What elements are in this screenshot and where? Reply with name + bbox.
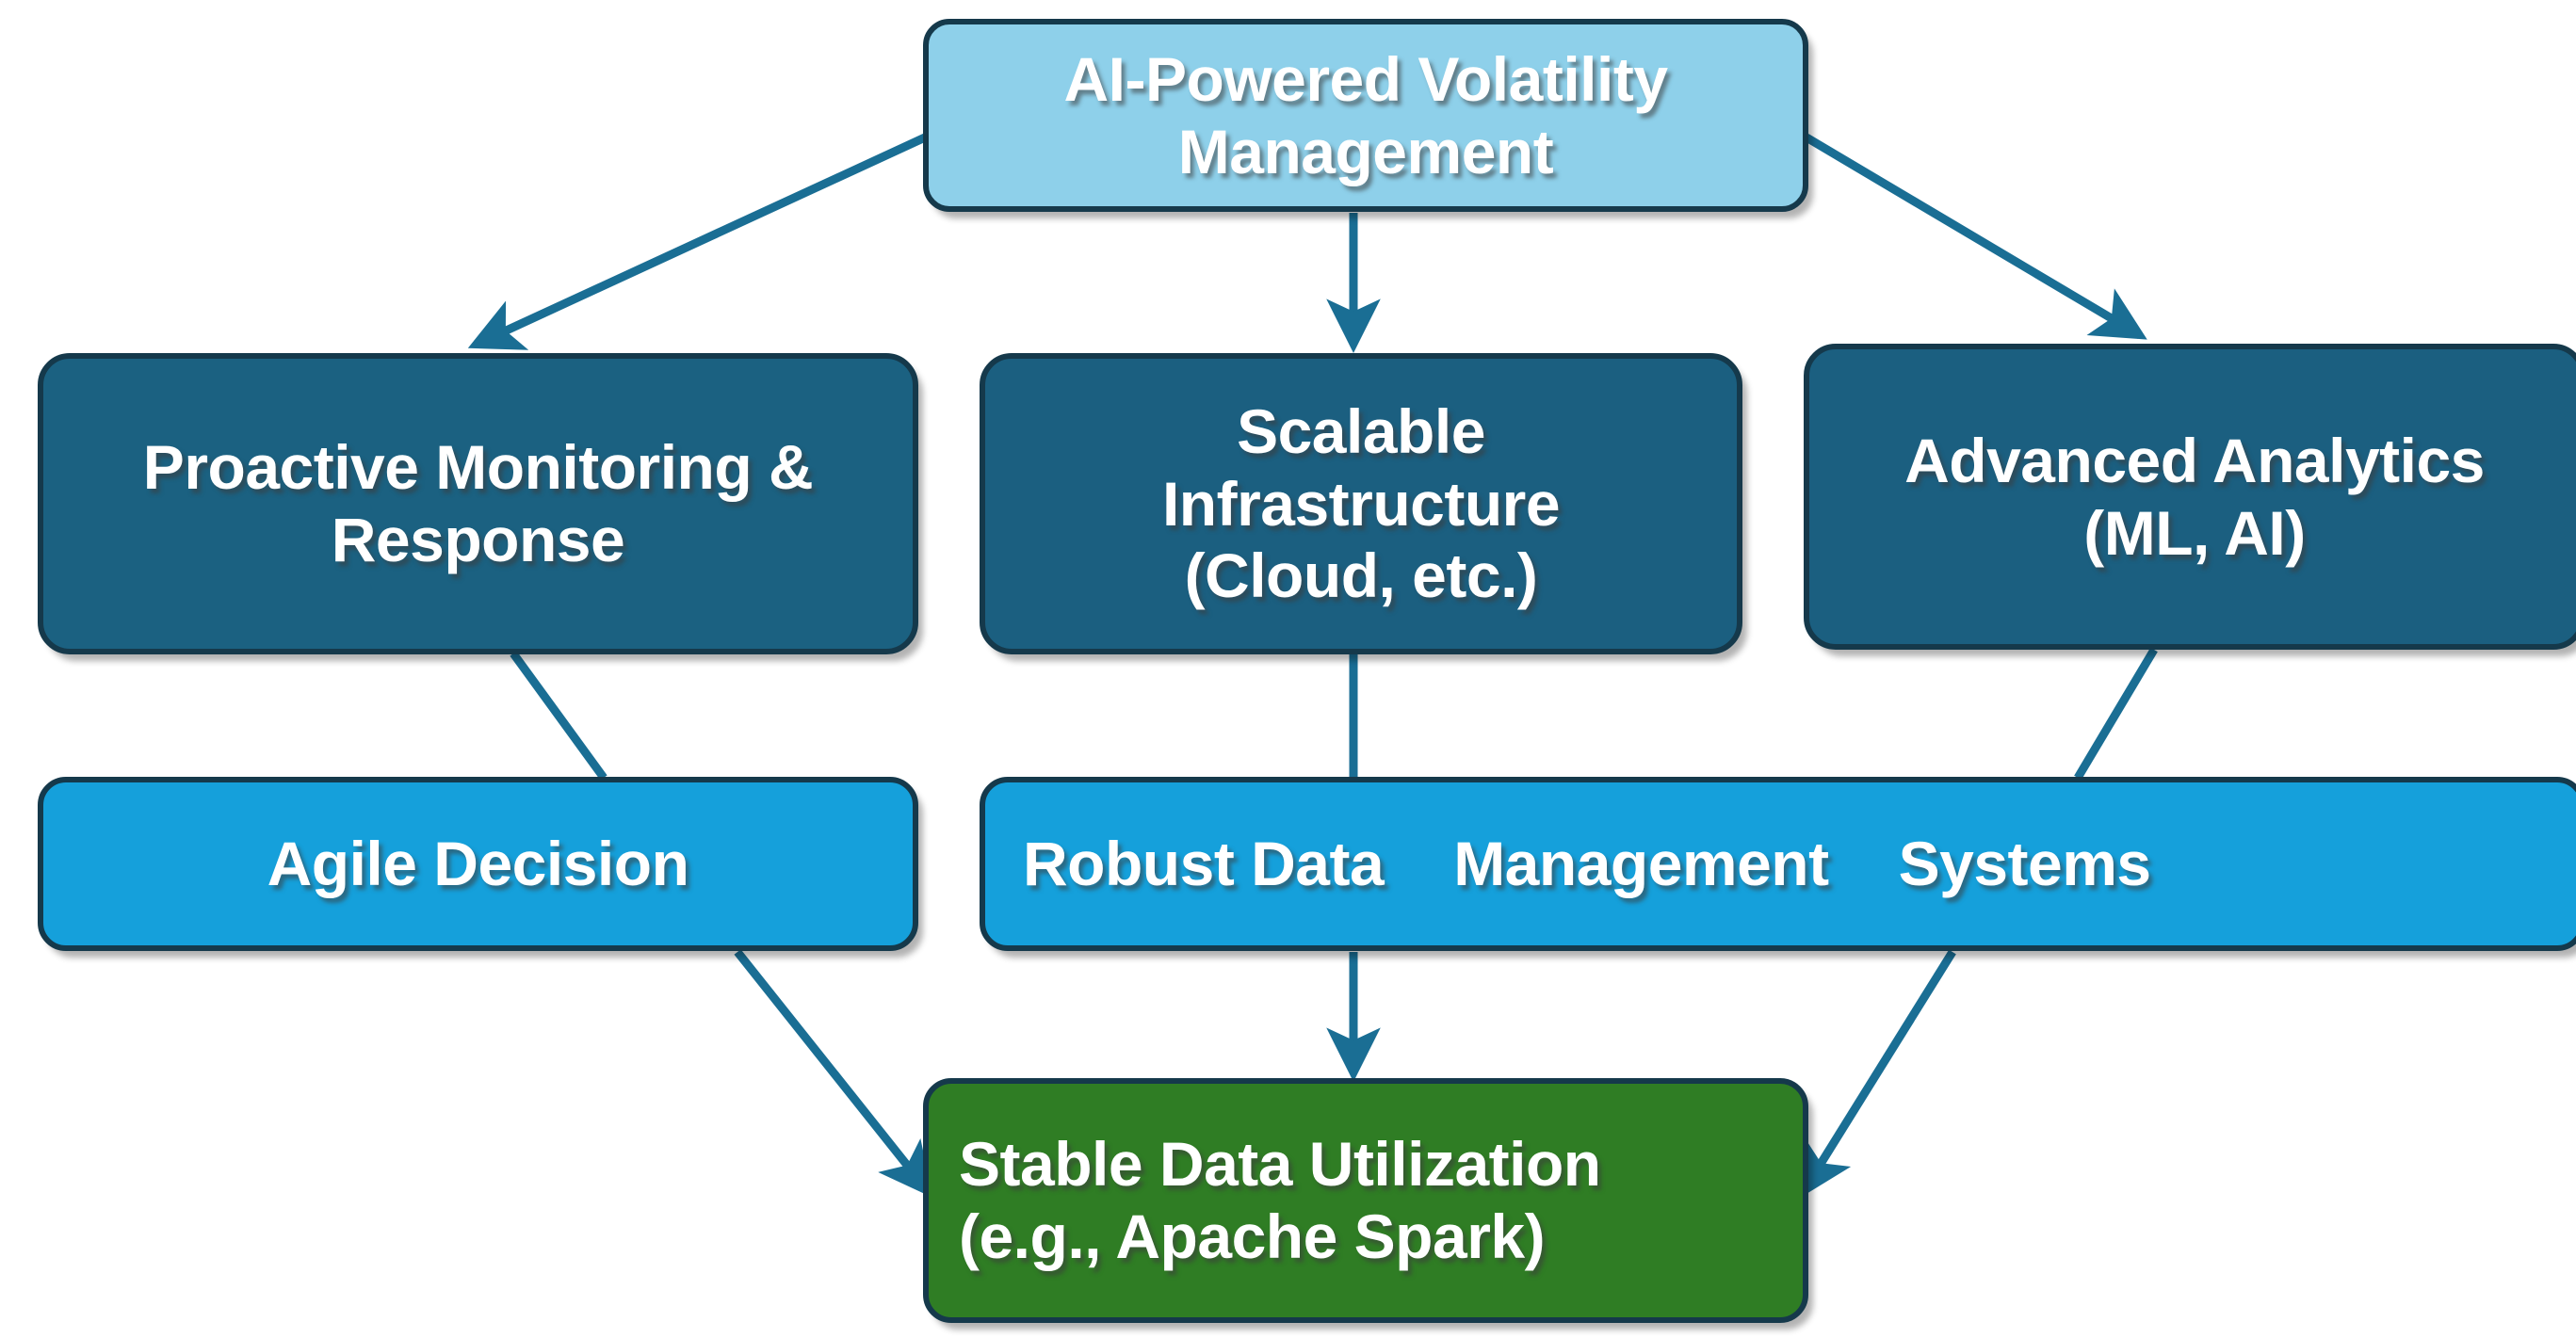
node-agile-decision[interactable]: Agile Decision bbox=[38, 777, 918, 951]
node-label: Agile Decision bbox=[254, 828, 703, 900]
node-stable-data-utilization[interactable]: Stable Data Utilization (e.g., Apache Sp… bbox=[923, 1078, 1808, 1323]
node-ai-powered-volatility-management[interactable]: AI-Powered Volatility Management bbox=[923, 19, 1808, 212]
edge-monitoring-to-agile bbox=[513, 653, 604, 778]
node-label-part-1: Robust Data bbox=[1023, 828, 1384, 900]
flowchart-canvas: AI-Powered Volatility Management Proacti… bbox=[0, 0, 2576, 1338]
node-scalable-infrastructure[interactable]: Scalable Infrastructure (Cloud, etc.) bbox=[980, 353, 1742, 654]
edge-analytics-to-robust bbox=[2078, 650, 2154, 778]
node-label-part-2: Management bbox=[1453, 828, 1828, 900]
node-label-group: Robust Data Management Systems bbox=[985, 828, 2164, 900]
edge-root-to-monitoring bbox=[476, 137, 925, 345]
edge-root-to-analytics bbox=[1806, 137, 2140, 335]
node-robust-data-management-systems[interactable]: Robust Data Management Systems bbox=[980, 777, 2576, 951]
node-label: Advanced Analytics (ML, AI) bbox=[1891, 425, 2498, 569]
node-label: Stable Data Utilization (e.g., Apache Sp… bbox=[929, 1128, 1614, 1272]
node-label: Proactive Monitoring & Response bbox=[130, 431, 826, 575]
node-advanced-analytics[interactable]: Advanced Analytics (ML, AI) bbox=[1804, 344, 2576, 650]
edge-agile-to-stable bbox=[737, 952, 928, 1191]
node-label-part-3: Systems bbox=[1899, 828, 2151, 900]
edge-robust-right-to-stable bbox=[1804, 952, 1952, 1191]
node-label: AI-Powered Volatility Management bbox=[1050, 43, 1680, 187]
node-label: Scalable Infrastructure (Cloud, etc.) bbox=[1149, 395, 1573, 612]
node-proactive-monitoring-response[interactable]: Proactive Monitoring & Response bbox=[38, 353, 918, 654]
